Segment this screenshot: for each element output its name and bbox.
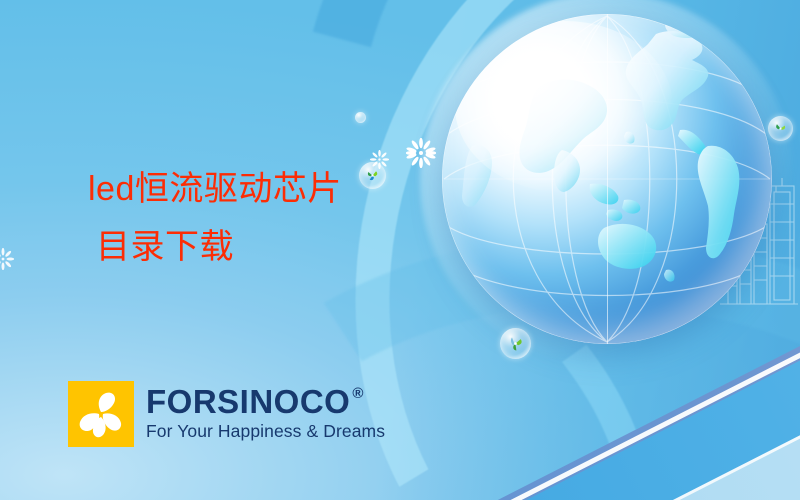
headline-text: led恒流驱动芯片 目录下载 <box>0 160 420 276</box>
globe-rim <box>442 14 772 344</box>
globe-icon <box>442 14 772 344</box>
bubble-icon <box>768 116 793 141</box>
logo-tagline: For Your Happiness & Dreams <box>146 423 385 441</box>
pinwheel-flower-glyph <box>68 381 134 447</box>
company-logo: FORSINOCO ® For Your Happiness & Dreams <box>68 381 385 447</box>
slide-canvas: led恒流驱动芯片 目录下载 FORSINOCO ® For Your Happ… <box>0 0 800 500</box>
headline-line-1: led恒流驱动芯片 <box>0 160 420 218</box>
bubble-icon <box>500 328 531 359</box>
globe-sphere <box>442 14 772 344</box>
bubble-icon <box>355 112 366 123</box>
registered-trademark-icon: ® <box>352 386 364 401</box>
bubble-shell <box>355 112 366 123</box>
logo-text-block: FORSINOCO ® For Your Happiness & Dreams <box>146 381 385 441</box>
logo-wordmark: FORSINOCO ® <box>146 385 385 418</box>
headline-line-2: 目录下载 <box>0 218 420 276</box>
pinwheel-flower-icon <box>68 381 134 447</box>
logo-name-text: FORSINOCO <box>146 385 350 418</box>
pinwheel-glyph-icon <box>505 333 526 354</box>
pinwheel-glyph-icon <box>772 120 789 137</box>
